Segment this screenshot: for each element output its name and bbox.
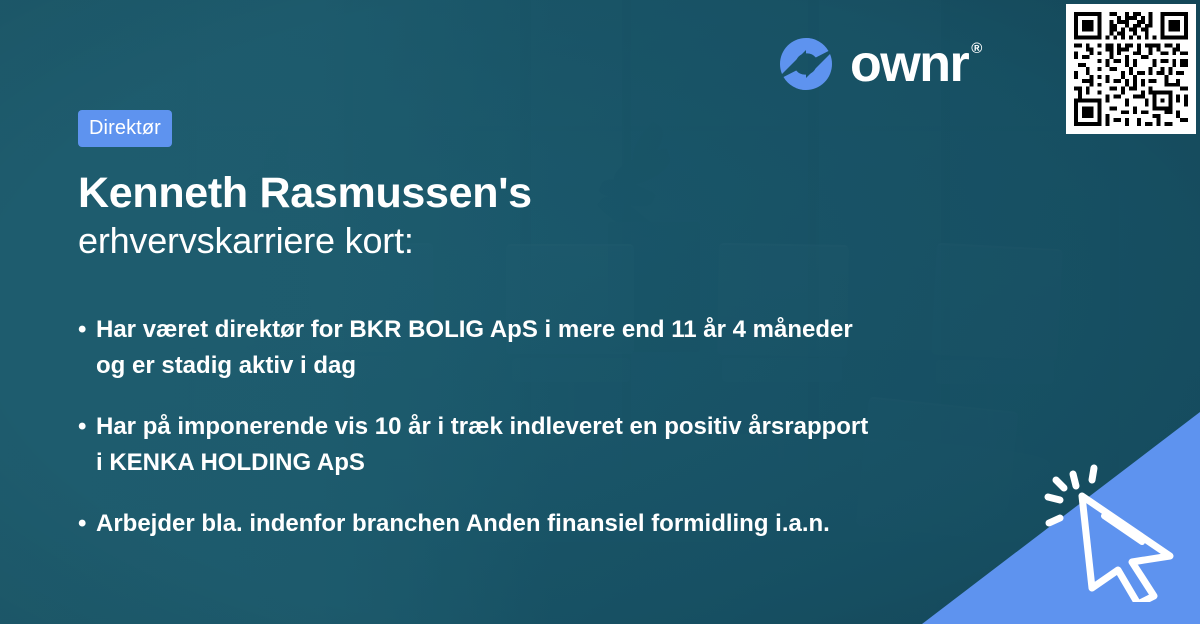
ownr-swirl-icon — [778, 36, 834, 92]
brand-logo[interactable]: ownr ® — [778, 36, 982, 92]
career-card: ownr ® — [0, 0, 1200, 624]
page-title: Kenneth Rasmussen's — [78, 169, 898, 217]
brand-wordmark: ownr ® — [850, 38, 982, 90]
mouse-cursor-click-icon — [1030, 452, 1182, 602]
list-item: • Har været direktør for BKR BOLIG ApS i… — [78, 312, 878, 385]
registered-trademark-icon: ® — [971, 41, 982, 56]
bullet-marker-icon: • — [78, 506, 96, 542]
list-item: • Har på imponerende vis 10 år i træk in… — [78, 409, 878, 482]
role-badge: Direktør — [78, 110, 172, 147]
career-highlights-list: • Har været direktør for BKR BOLIG ApS i… — [78, 312, 878, 542]
list-item-text: Har været direktør for BKR BOLIG ApS i m… — [96, 312, 878, 385]
bullet-marker-icon: • — [78, 312, 96, 385]
list-item-text: Arbejder bla. indenfor branchen Anden fi… — [96, 506, 878, 542]
bullet-marker-icon: • — [78, 409, 96, 482]
brand-name: ownr — [850, 38, 968, 90]
list-item-text: Har på imponerende vis 10 år i træk indl… — [96, 409, 878, 482]
page-subtitle: erhvervskarriere kort: — [78, 219, 898, 262]
headline-block: Direktør Kenneth Rasmussen's erhvervskar… — [78, 110, 898, 262]
qr-code-icon[interactable] — [1066, 4, 1196, 134]
list-item: • Arbejder bla. indenfor branchen Anden … — [78, 506, 878, 542]
